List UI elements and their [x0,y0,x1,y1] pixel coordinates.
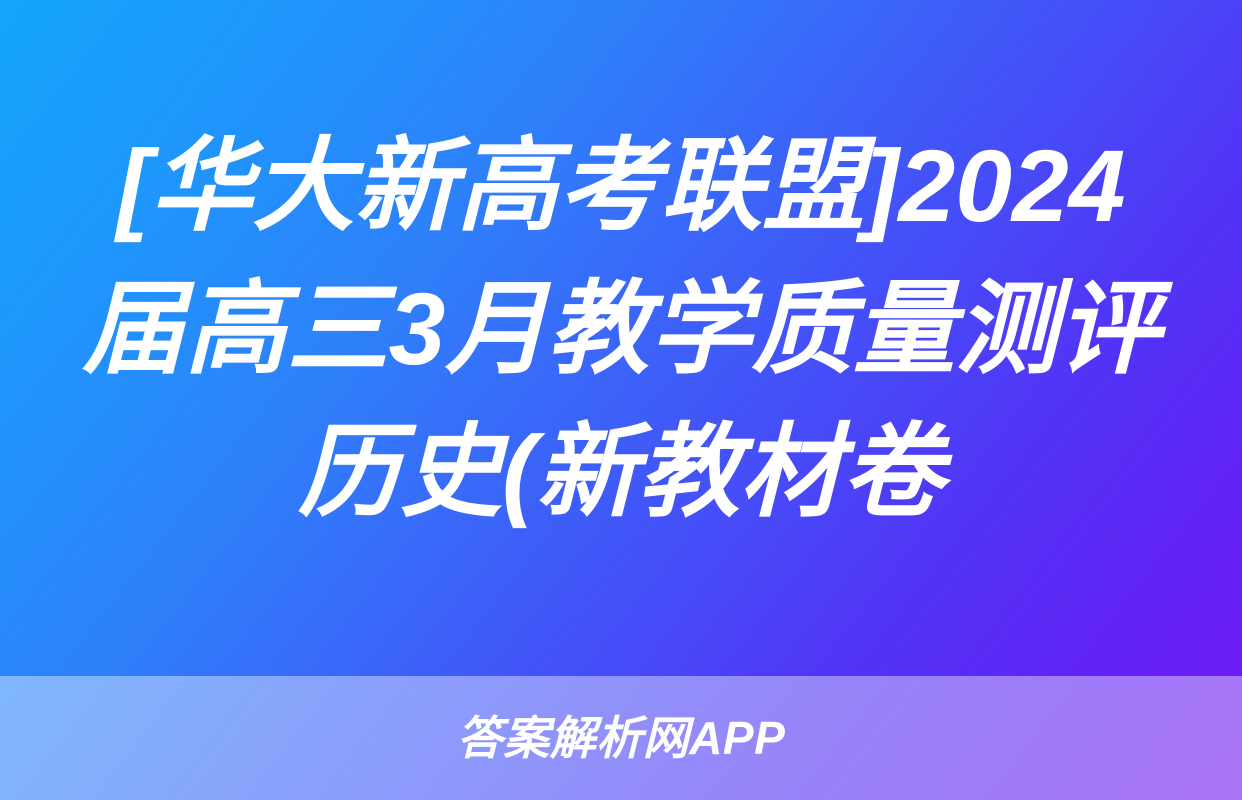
title-line-3: 历史(新教材卷 [46,401,1196,544]
footer-brand-band: 答案解析网APP [0,676,1242,800]
cover-image: [华大新高考联盟]2024 届高三3月教学质量测评 历史(新教材卷 答案解析网A… [0,0,1242,800]
brand-watermark: 答案解析网APP [457,710,786,766]
title-line-1: [华大新高考联盟]2024 [46,115,1196,258]
cover-title-block: [华大新高考联盟]2024 届高三3月教学质量测评 历史(新教材卷 [0,0,1242,676]
title-line-2: 届高三3月教学质量测评 [46,258,1196,401]
